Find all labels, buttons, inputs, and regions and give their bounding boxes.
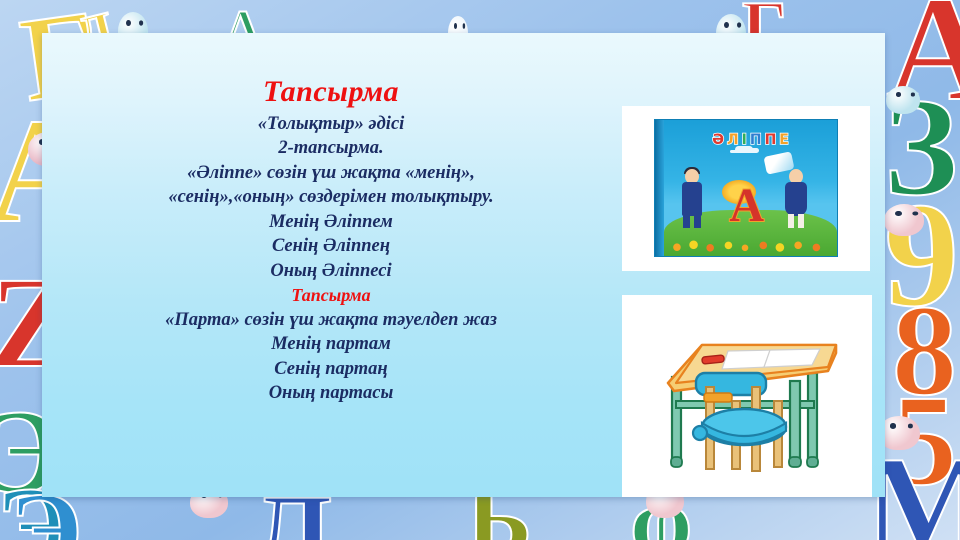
alippe-book-image-frame: ӘЛІППЕ A — [622, 106, 870, 271]
lesson-line: Менің Әліппем — [66, 210, 596, 235]
lesson-line: Сенің партаң — [66, 357, 596, 382]
decorative-letter: 5 — [892, 376, 957, 506]
book-spine — [655, 120, 664, 256]
lesson-line: «сенің»,«оның» сөздерімен толықтыру. — [66, 185, 596, 210]
presentation-slide: ГАZЭЭДΔГAЗ985МЭЛЬφ Тапсырма «Толықтыр» ә… — [0, 0, 960, 540]
book-cover-title: ӘЛІППЕ — [671, 132, 831, 148]
content-card: Тапсырма «Толықтыр» әдісі2-тапсырма.«Әлі… — [42, 33, 885, 497]
decorative-letter: 8 — [892, 286, 957, 416]
girl-legs — [788, 214, 804, 228]
flowers-shape — [667, 240, 833, 252]
lesson-line: Сенің Әліппең — [66, 234, 596, 259]
lesson-line: «Толықтыр» әдісі — [66, 112, 596, 137]
lesson-line: Оның партасы — [66, 381, 596, 406]
decorative-letter: A — [886, 0, 960, 124]
lesson-line: Тапсырма — [66, 284, 596, 308]
boy-body — [682, 182, 702, 216]
blue-blob-critter — [886, 86, 920, 114]
boy-legs — [683, 214, 701, 228]
lesson-line: 2-тапсырма. — [66, 136, 596, 161]
decorative-letter: 9 — [884, 180, 959, 330]
book-title-letter: І — [741, 132, 749, 148]
school-desk-illustration — [640, 315, 854, 483]
book-title-letter: Е — [778, 132, 791, 148]
book-title-letter: П — [749, 132, 764, 148]
book-title-letter: Л — [726, 132, 741, 148]
lesson-line: «Әліппе» сөзін үш жақта «менің», — [66, 161, 596, 186]
book-title-letter: П — [764, 132, 779, 148]
school-desk-image-frame — [622, 295, 872, 497]
book-title-letter: Ә — [711, 132, 726, 148]
lesson-line: Оның Әліппесі — [66, 259, 596, 284]
page-title: Тапсырма — [66, 75, 596, 110]
desk-svg — [640, 315, 854, 483]
pink-blob-critter — [884, 204, 924, 236]
lesson-text-block: Тапсырма «Толықтыр» әдісі2-тапсырма.«Әлі… — [66, 75, 596, 406]
decorative-letter: З — [884, 78, 958, 218]
alippe-book-cover-illustration: ӘЛІППЕ A — [654, 119, 838, 257]
lesson-lines: «Толықтыр» әдісі2-тапсырма.«Әліппе» сөзі… — [66, 112, 596, 406]
girl-body — [785, 182, 807, 216]
big-letter-a: A — [729, 182, 764, 230]
lesson-line: «Парта» сөзін үш жақта тәуелдеп жаз — [66, 308, 596, 333]
lesson-line: Менің партам — [66, 332, 596, 357]
